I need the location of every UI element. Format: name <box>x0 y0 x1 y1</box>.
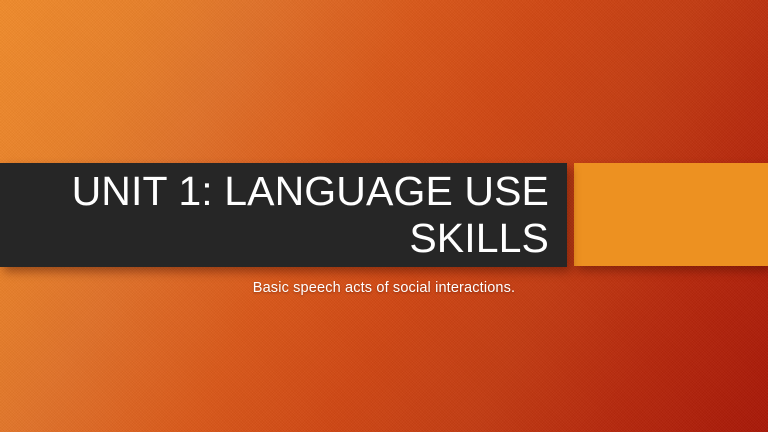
slide-title: UNIT 1: LANGUAGE USE SKILLS <box>29 168 549 262</box>
slide-subtitle: Basic speech acts of social interactions… <box>0 279 768 298</box>
title-slide: UNIT 1: LANGUAGE USE SKILLS Basic speech… <box>0 0 768 432</box>
title-plate: UNIT 1: LANGUAGE USE SKILLS <box>0 163 567 267</box>
accent-block <box>574 163 768 266</box>
